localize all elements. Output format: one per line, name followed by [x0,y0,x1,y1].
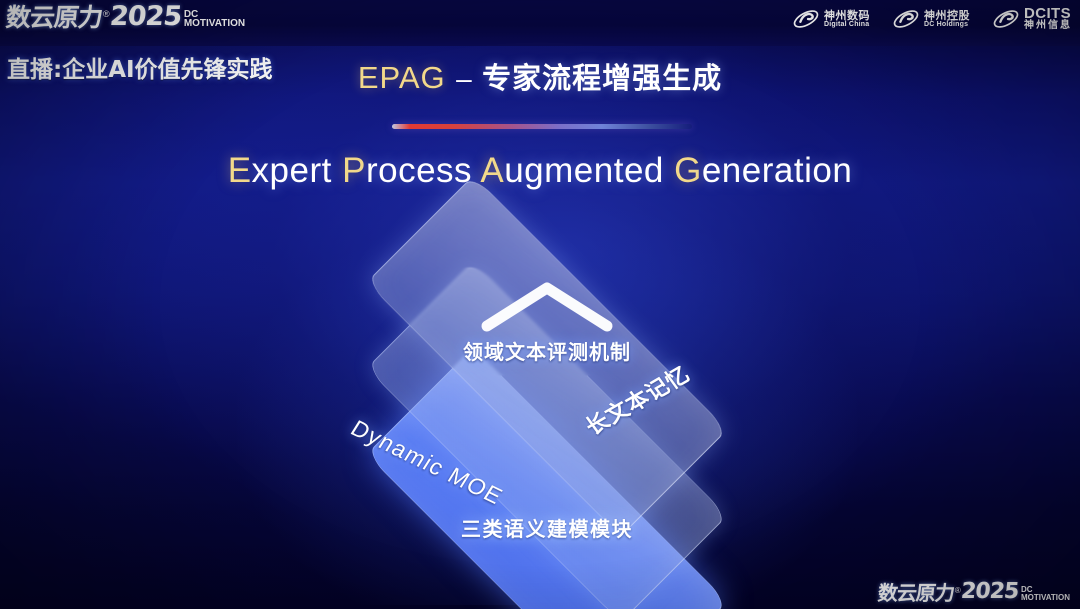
partner-name-en: DC Holdings [924,21,970,28]
partner-name-en: DCITS [1024,6,1072,21]
partner-logo-group: 神州数码 Digital China 神州控股 DC Holdings [792,5,1072,33]
brand-year: 2025 [108,3,182,30]
partner-logo-text: 神州数码 Digital China [824,10,870,29]
watermark-subtitle: DC MOTIVATION [1021,586,1070,601]
partner-name-cn: 神州信息 [1024,21,1072,32]
corner-watermark-logo: 数云原力 ® 2025 DC MOTIVATION [878,581,1070,603]
brand-name-cn: 数云原力 [5,5,104,30]
subtitle-word-expert: Expert [228,151,332,190]
watermark-subtitle-line2: MOTIVATION [1021,594,1070,601]
partner-logo-text: 神州控股 DC Holdings [924,10,970,29]
partner-logo-text: DCITS 神州信息 [1024,6,1072,32]
layer-stack-diagram: 三类语义建模模块 Dynamic MOE 长文本记忆 领域文本评测机制 [287,230,807,580]
subtitle-word-generation: Generation [674,151,852,190]
brand-subtitle-line2: MOTIVATION [184,19,245,28]
partner-logo-dc-holdings: 神州控股 DC Holdings [892,5,970,33]
swirl-icon [892,5,920,33]
title-divider [392,124,692,129]
brand-subtitle: DC MOTIVATION [184,10,245,28]
swirl-icon [792,5,820,33]
watermark-year: 2025 [960,581,1020,603]
diagram-label-top: 领域文本评测机制 [287,336,807,365]
subtitle-word-augmented: Augmented [480,151,664,190]
diagram-label-bottom: 三类语义建模模块 [287,513,807,542]
swirl-icon [992,5,1020,33]
slide-canvas: 数云原力 ® 2025 DC MOTIVATION 直播:企业AI价值先锋实践 … [0,0,1080,609]
chevron-up-icon [477,278,617,336]
brand-registered-mark: ® [103,10,110,19]
partner-logo-digital-china: 神州数码 Digital China [792,5,870,33]
watermark-name-cn: 数云原力 [877,583,955,603]
partner-name-cn: 神州数码 [824,10,870,22]
partner-name-cn: 神州控股 [924,10,970,22]
partner-logo-dcits: DCITS 神州信息 [992,5,1072,33]
slide-subtitle: Expert Process Augmented Generation [0,151,1080,191]
title-dash: – [456,63,472,94]
brand-logo: 数云原力 ® 2025 DC MOTIVATION [6,3,245,30]
title-chinese: 专家流程增强生成 [482,61,722,95]
slide-title: EPAG – 专家流程增强生成 [0,55,1080,97]
title-acronym: EPAG [358,60,446,95]
partner-name-en: Digital China [824,21,870,28]
subtitle-word-process: Process [342,151,472,190]
